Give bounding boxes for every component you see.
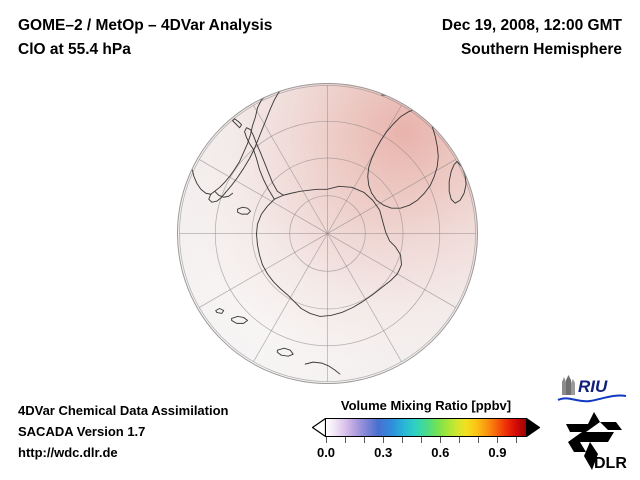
globe-disc bbox=[177, 83, 478, 384]
footer-line-1: 4DVar Chemical Data Assimilation bbox=[18, 400, 229, 421]
header-right-block: Dec 19, 2008, 12:00 GMT Southern Hemisph… bbox=[442, 14, 622, 62]
timestamp-label: Dec 19, 2008, 12:00 GMT bbox=[442, 14, 622, 38]
colorbar-labels: 0.00.30.60.9 bbox=[326, 445, 526, 463]
colorbar-tick bbox=[345, 437, 346, 443]
globe-graphics bbox=[178, 84, 477, 383]
colorbar-tick bbox=[497, 437, 498, 443]
colorbar-tick bbox=[364, 437, 365, 443]
colorbar-tick bbox=[459, 437, 460, 443]
colorbar-gradient bbox=[326, 418, 526, 437]
colorbar-tick bbox=[402, 437, 403, 443]
colorbar-title: Volume Mixing Ratio [ppbv] bbox=[312, 398, 540, 413]
colorbar-tick bbox=[516, 437, 517, 443]
globe-map bbox=[177, 83, 478, 384]
dlr-logo-text: DLR bbox=[594, 455, 627, 472]
region-label: Southern Hemisphere bbox=[442, 38, 622, 62]
coastlines-group bbox=[192, 85, 473, 374]
page-subtitle: ClO at 55.4 hPa bbox=[18, 38, 272, 62]
colorbar: Volume Mixing Ratio [ppbv] 0.00.30.60.9 bbox=[312, 398, 540, 463]
colorbar-tick-label: 0.3 bbox=[374, 445, 392, 460]
header-left-block: GOME–2 / MetOp – 4DVar Analysis ClO at 5… bbox=[18, 14, 272, 62]
colorbar-tick-label: 0.9 bbox=[488, 445, 506, 460]
colorbar-over-arrow-icon bbox=[526, 418, 540, 437]
dlr-logo: DLR bbox=[564, 410, 628, 472]
page-title: GOME–2 / MetOp – 4DVar Analysis bbox=[18, 14, 272, 38]
graticule-group bbox=[179, 85, 475, 381]
colorbar-tick bbox=[478, 437, 479, 443]
footer-block: 4DVar Chemical Data Assimilation SACADA … bbox=[18, 400, 229, 463]
colorbar-tick bbox=[383, 437, 384, 443]
colorbar-tick-label: 0.6 bbox=[431, 445, 449, 460]
colorbar-tick bbox=[440, 437, 441, 443]
riu-logo: RIU bbox=[556, 374, 628, 404]
footer-line-2: SACADA Version 1.7 bbox=[18, 421, 229, 442]
footer-url: http://wdc.dlr.de bbox=[18, 442, 229, 463]
riu-logo-text: RIU bbox=[578, 377, 608, 396]
colorbar-strip bbox=[312, 418, 540, 437]
riu-wave-icon bbox=[558, 396, 626, 402]
colorbar-ticks bbox=[326, 437, 526, 444]
colorbar-tick bbox=[421, 437, 422, 443]
colorbar-under-arrow-icon bbox=[312, 418, 326, 437]
riu-tower-icon bbox=[562, 375, 575, 395]
colorbar-tick-label: 0.0 bbox=[317, 445, 335, 460]
colorbar-tick bbox=[326, 437, 327, 443]
